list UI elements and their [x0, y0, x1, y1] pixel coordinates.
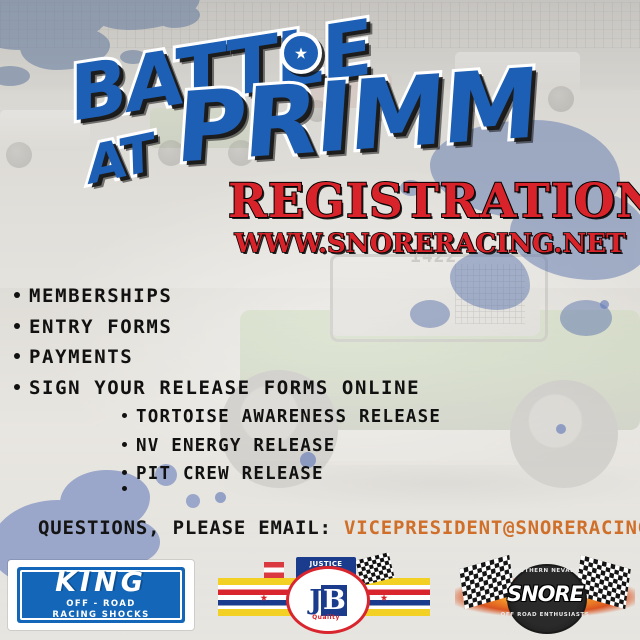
king-logo-tagline: OFF - ROAD RACING SHOCKS [52, 599, 149, 620]
bullet-dot-icon [14, 353, 20, 359]
sub-list-item-empty [122, 490, 614, 508]
website-url[interactable]: WWW.SNORERACING.NET [228, 229, 632, 259]
bullet-dot-icon [14, 323, 20, 329]
sub-list-item: PIT CREW RELEASE [122, 462, 614, 487]
bullet-dot-icon [122, 470, 127, 475]
jb-letter-b: B [321, 585, 347, 616]
bullet-dot-icon [122, 442, 127, 447]
list-item-label: SIGN YOUR RELEASE FORMS ONLINE [29, 375, 420, 403]
list-item: MEMBERSHIPS [14, 283, 614, 311]
list-item-label: PAYMENTS [29, 344, 133, 372]
sub-list-item: NV ENERGY RELEASE [122, 434, 614, 459]
king-logo-plate: KING OFF - ROAD RACING SHOCKS [17, 567, 185, 623]
us-flag-icon [264, 562, 284, 578]
event-registration-flyer: 1422 BATTLE ★ [0, 0, 640, 640]
jb-monogram-letters: JB [309, 585, 347, 616]
logo-star-glyph: ★ [294, 42, 307, 64]
king-tagline-line1: OFF - ROAD [52, 599, 149, 610]
list-item-label: ENTRY FORMS [29, 314, 172, 342]
bullet-dot-icon [14, 292, 20, 298]
bullet-dot-icon [122, 413, 127, 418]
bullet-dot-icon [14, 384, 20, 390]
bullet-dot-icon [122, 486, 127, 491]
king-logo-wordmark: KING [55, 569, 147, 596]
sponsor-logo-snore[interactable]: SOUTHERN NEVADA SNORE OFF ROAD ENTHUSIAS… [455, 556, 635, 636]
jb-star-icon-right: ★ [380, 591, 388, 604]
sub-list-item: TORTOISE AWARENESS RELEASE [122, 405, 614, 430]
feature-list: MEMBERSHIPS ENTRY FORMS PAYMENTS SIGN YO… [14, 283, 614, 511]
jb-monogram-badge: JB [286, 566, 370, 634]
contact-line: QUESTIONS, PLEASE EMAIL: VICEPRESIDENT@S… [38, 517, 640, 539]
jb-tagline: Quality [300, 614, 352, 621]
list-item-label: MEMBERSHIPS [29, 283, 172, 311]
sponsor-bar: KING OFF - ROAD RACING SHOCKS ★ ★ JUSTIC… [0, 552, 640, 640]
sponsor-logo-king-shocks[interactable]: KING OFF - ROAD RACING SHOCKS [8, 560, 194, 630]
list-item: PAYMENTS [14, 344, 614, 372]
headline-block: REGISTRATION WWW.SNORERACING.NET [228, 180, 632, 259]
contact-email[interactable]: VICEPRESIDENT@SNORERACING.NET [344, 517, 640, 539]
logo-word-at: AT [86, 123, 154, 198]
sub-list-item-label: PIT CREW RELEASE [136, 462, 324, 487]
king-tagline-line2: RACING SHOCKS [52, 610, 149, 621]
snore-bottom-text: OFF ROAD ENTHUSIASTS [499, 612, 591, 618]
sponsor-logo-justice-bros[interactable]: ★ ★ JUSTICE BROS. JB Quality [218, 558, 430, 634]
list-item: ENTRY FORMS [14, 314, 614, 342]
snore-wordmark: SNORE [495, 582, 595, 606]
jb-letter-j: J [309, 585, 321, 616]
page-title: REGISTRATION [228, 180, 632, 225]
list-item: SIGN YOUR RELEASE FORMS ONLINE [14, 375, 614, 403]
jb-star-icon-left: ★ [260, 591, 268, 604]
snore-top-text: SOUTHERN NEVADA [509, 568, 581, 574]
sub-list-item-label: NV ENERGY RELEASE [136, 434, 336, 459]
contact-label: QUESTIONS, PLEASE EMAIL: [38, 517, 332, 539]
sub-list-item-label: TORTOISE AWARENESS RELEASE [136, 405, 441, 430]
